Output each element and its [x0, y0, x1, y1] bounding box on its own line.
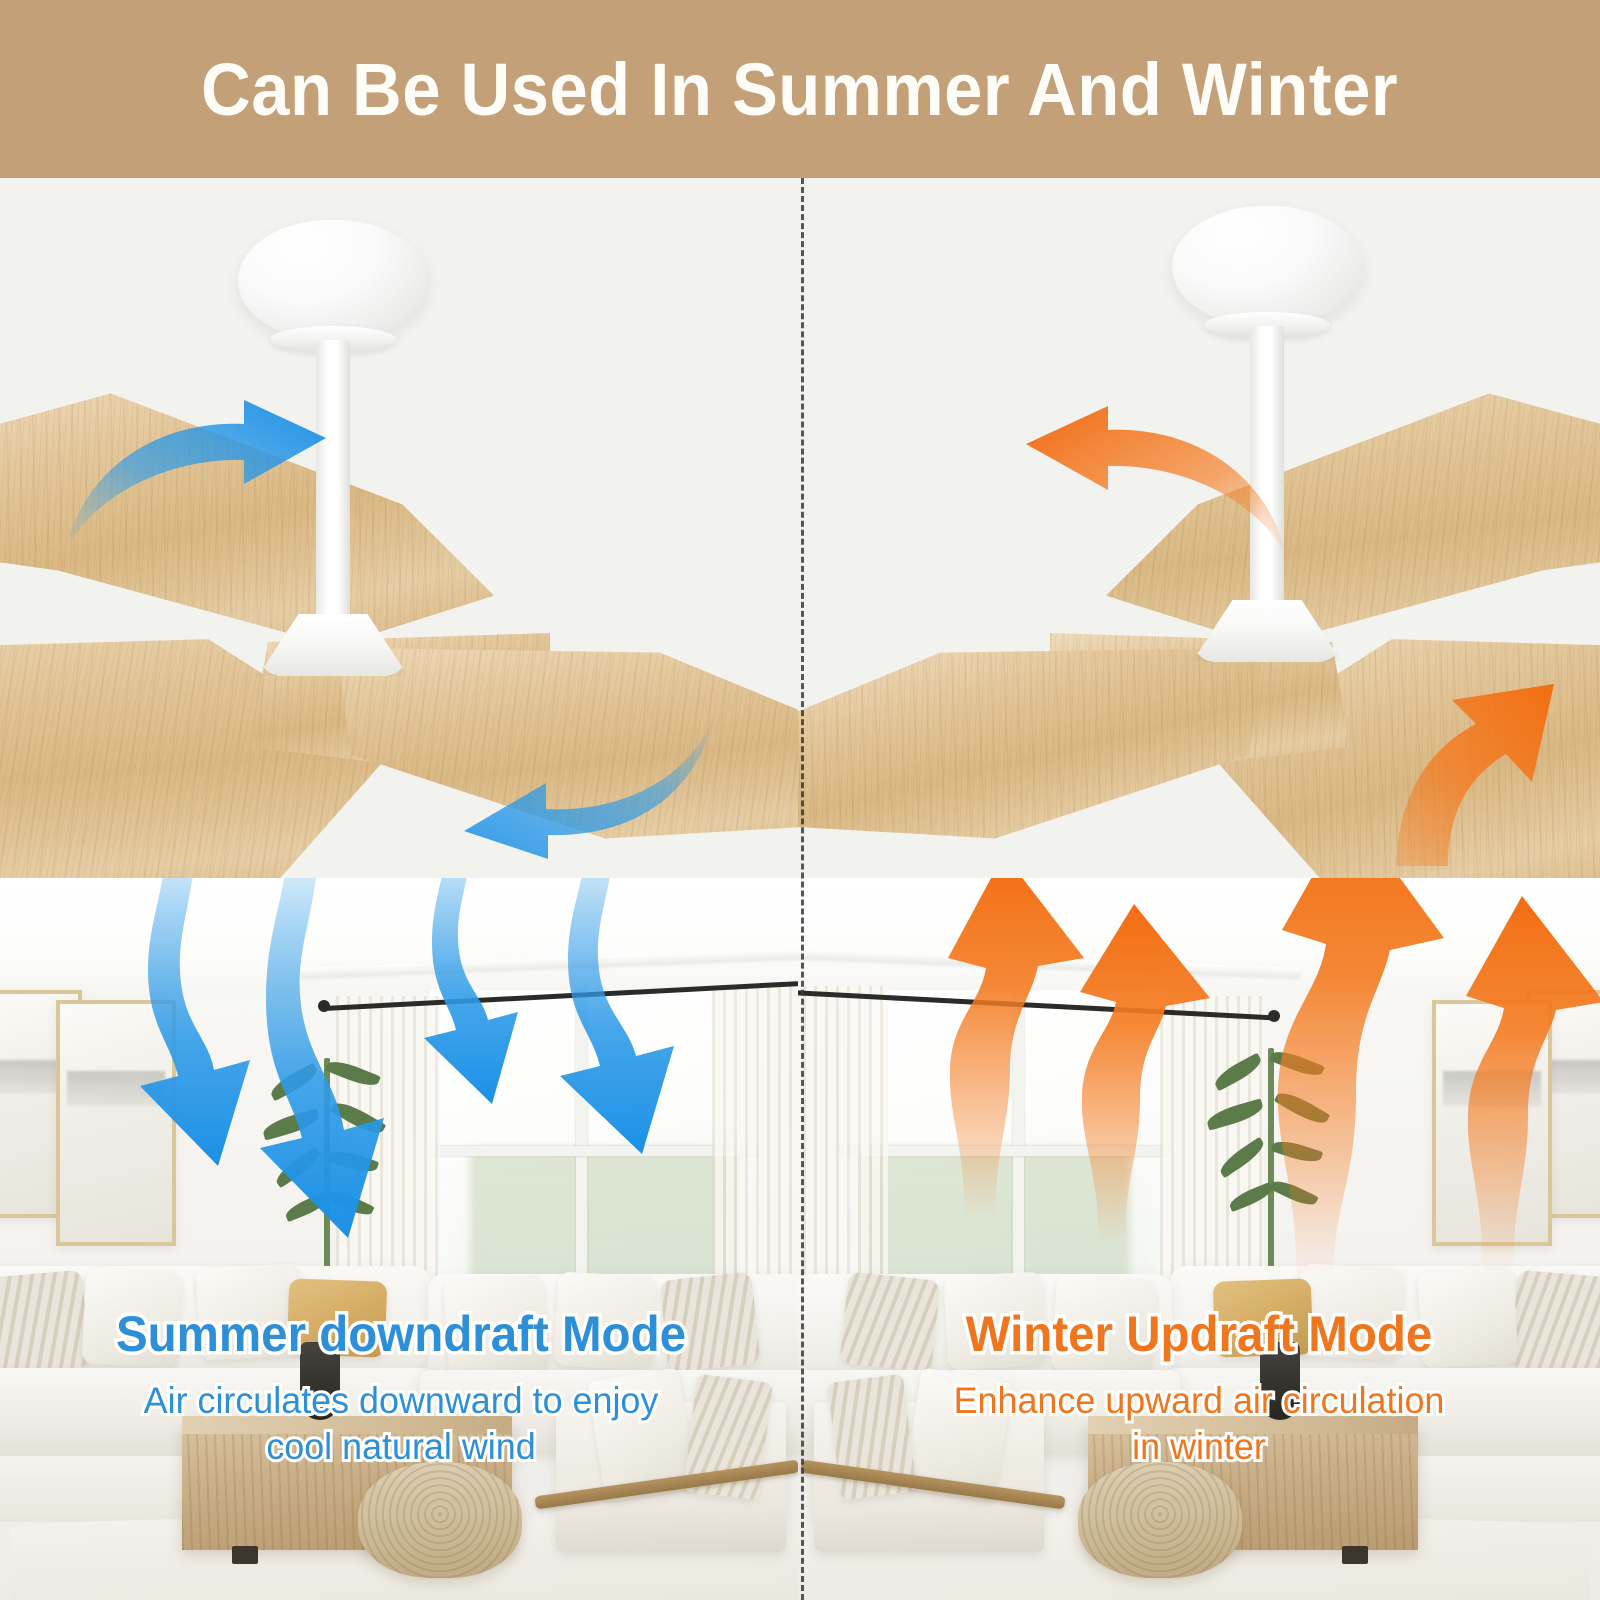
- accent-pillow: [944, 1272, 1047, 1371]
- plant-stem: [1268, 1048, 1274, 1288]
- winter-panel: Winter Updraft Mode Enhance upward air c…: [798, 178, 1600, 1600]
- window-mullion-horizontal: [430, 1146, 760, 1156]
- summer-room-scene: Summer downdraft Mode Air circulates dow…: [0, 878, 802, 1600]
- summer-product-shot: [0, 178, 802, 938]
- rotation-arrow-winter-blade: [1340, 678, 1590, 868]
- summer-panel: Summer downdraft Mode Air circulates dow…: [0, 178, 802, 1600]
- accent-pillow-striped: [1510, 1270, 1600, 1377]
- curtain-rod-finial: [318, 1000, 330, 1012]
- wall-art-left: [1432, 1000, 1552, 1246]
- coffee-table-leg: [232, 1546, 258, 1564]
- accent-pillow: [82, 1268, 183, 1369]
- header-banner: Can Be Used In Summer And Winter: [0, 0, 1600, 178]
- accent-pillow: [1418, 1268, 1519, 1369]
- infographic-page: Can Be Used In Summer And Winter: [0, 0, 1600, 1600]
- ceiling-canopy: [238, 220, 428, 338]
- accent-pillow-striped: [839, 1271, 940, 1372]
- decor-vase: [1260, 1342, 1300, 1420]
- art-band: [67, 1071, 166, 1107]
- woven-pouf: [358, 1462, 522, 1578]
- coffee-table-top: [182, 1416, 512, 1434]
- wall-art-right: [56, 1000, 176, 1246]
- ceiling-canopy: [1172, 206, 1362, 324]
- page-title: Can Be Used In Summer And Winter: [201, 47, 1398, 132]
- rotation-arrow-summer-blade: [452, 703, 722, 863]
- coffee-table-top: [1088, 1416, 1418, 1434]
- accent-pillow: [443, 1275, 549, 1378]
- plant-stem: [324, 1058, 330, 1288]
- fan-blade-left: [798, 630, 1277, 886]
- curtain-rod-finial: [1268, 1010, 1280, 1022]
- rotation-arrow-winter-hub: [994, 396, 1294, 576]
- coffee-table-leg: [1342, 1546, 1368, 1564]
- winter-room-scene: Winter Updraft Mode Enhance upward air c…: [798, 878, 1600, 1600]
- accent-pillow: [1051, 1275, 1157, 1378]
- rotation-arrow-summer-hub: [58, 390, 358, 570]
- winter-product-shot: [798, 178, 1600, 938]
- accent-pillow-striped: [0, 1270, 90, 1377]
- accent-pillow: [554, 1272, 657, 1371]
- room-ceiling: [798, 878, 1600, 998]
- panel-divider: [801, 178, 804, 1600]
- art-band: [1443, 1071, 1542, 1107]
- room-ceiling: [0, 878, 802, 998]
- content-stage: Summer downdraft Mode Air circulates dow…: [0, 178, 1600, 1600]
- decor-vase: [300, 1342, 340, 1420]
- accent-pillow-striped: [659, 1271, 760, 1372]
- window-mullion-horizontal: [840, 1146, 1170, 1156]
- woven-pouf: [1078, 1462, 1242, 1578]
